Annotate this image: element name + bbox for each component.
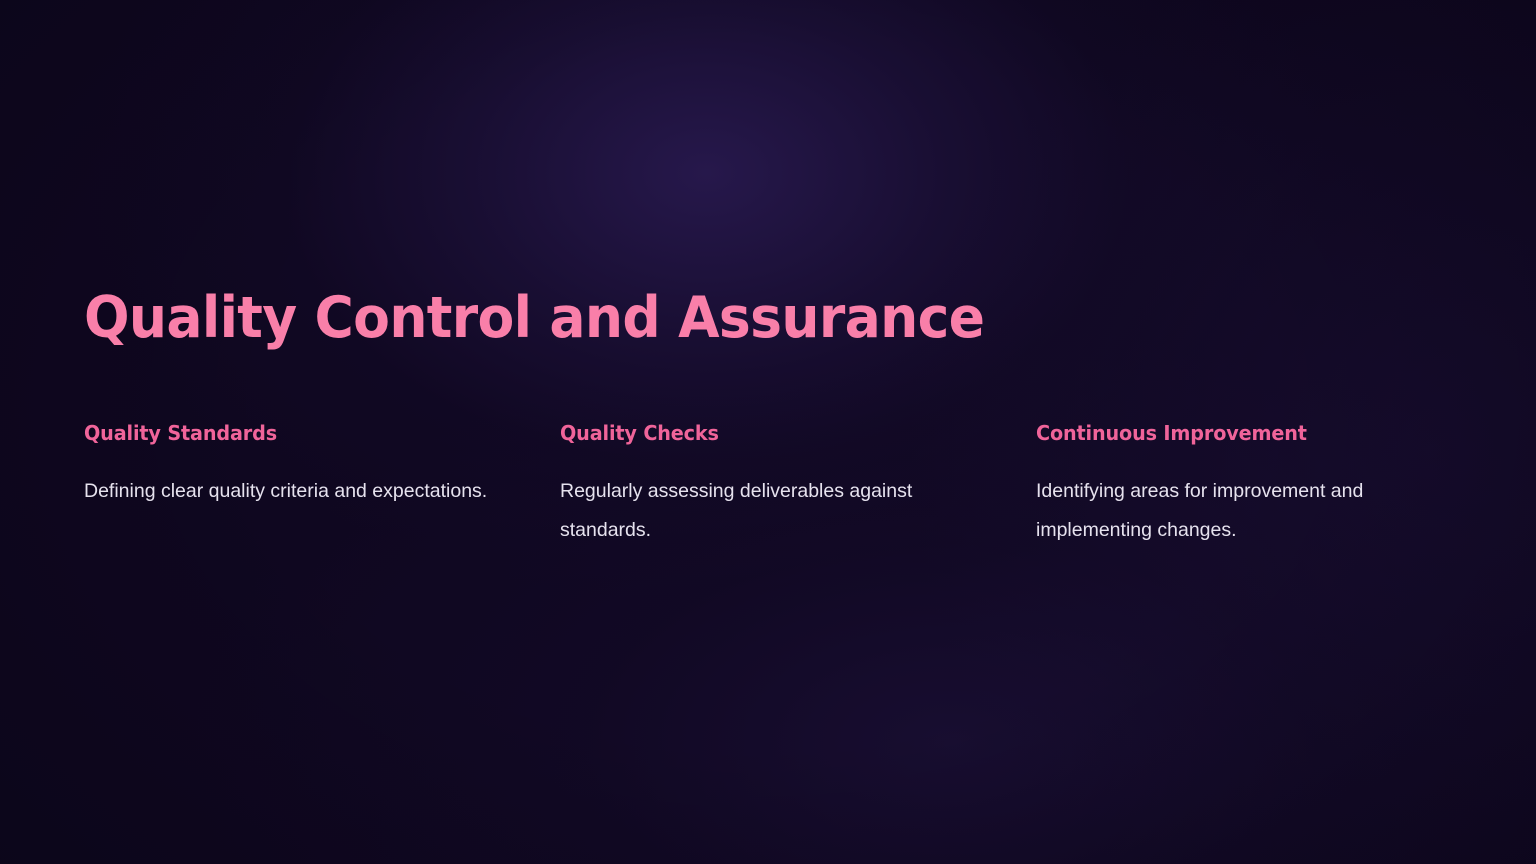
column-body-quality-checks: Regularly assessing deliverables against… [560,446,971,550]
column-body-continuous-improvement: Identifying areas for improvement and im… [1036,446,1447,550]
column-heading-quality-standards: Quality Standards [84,420,479,446]
presentation-slide: Quality Control and Assurance Quality St… [0,0,1536,864]
column-continuous-improvement: Continuous Improvement Identifying areas… [1036,420,1447,550]
column-quality-standards: Quality Standards Defining clear quality… [84,420,495,550]
column-body-quality-standards: Defining clear quality criteria and expe… [84,446,495,511]
slide-title: Quality Control and Assurance [84,288,984,350]
column-quality-checks: Quality Checks Regularly assessing deliv… [560,420,971,550]
feature-columns: Quality Standards Defining clear quality… [84,420,1460,550]
column-heading-quality-checks: Quality Checks [560,420,955,446]
slide-content: Quality Control and Assurance Quality St… [0,0,1536,864]
column-heading-continuous-improvement: Continuous Improvement [1036,420,1431,446]
